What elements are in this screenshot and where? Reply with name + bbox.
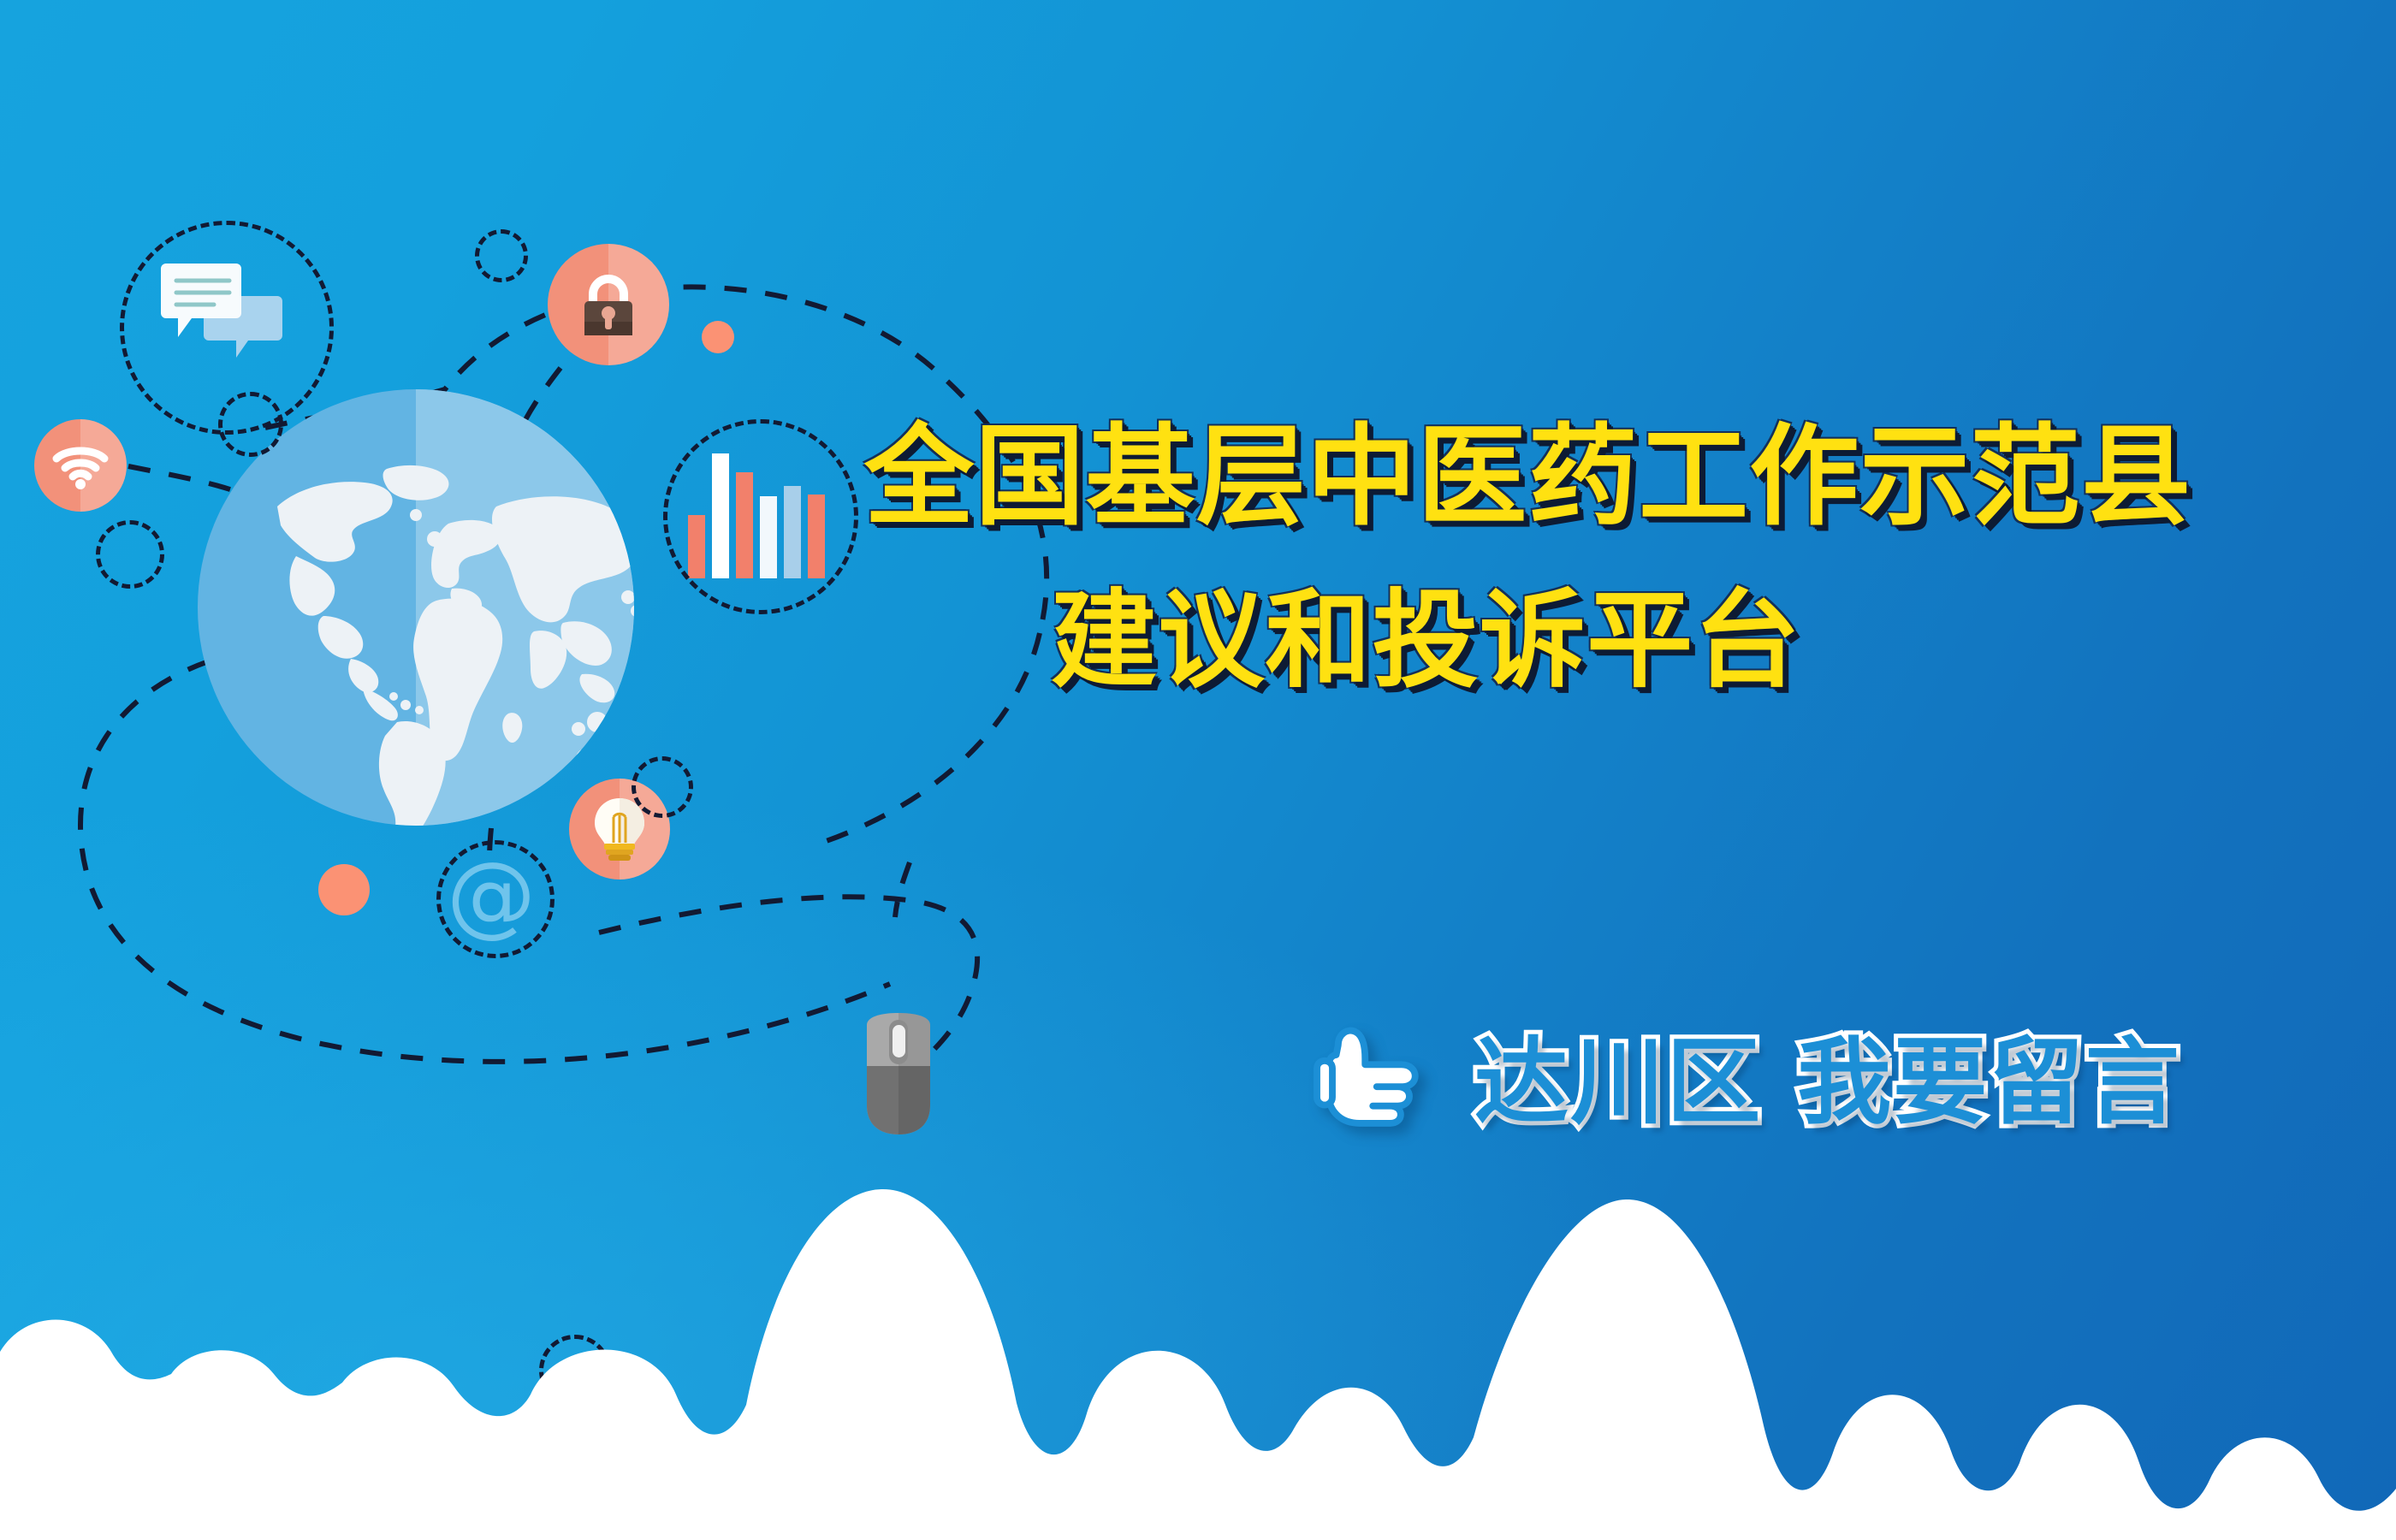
dashed-ring-small-2 bbox=[218, 392, 283, 457]
leave-message-cta[interactable]: 达川区 我要留言 bbox=[1309, 1005, 2181, 1142]
at-sign-icon: @ bbox=[436, 840, 546, 950]
lightbulb-icon bbox=[590, 795, 649, 863]
dashed-ring-bars bbox=[663, 419, 858, 614]
wifi-icon bbox=[51, 441, 110, 489]
title-block: 全国基层中医药工作示范县 建议和投诉平台 bbox=[864, 419, 2370, 697]
pointing-right-hand-icon bbox=[1309, 1016, 1425, 1132]
wifi-badge bbox=[34, 419, 127, 512]
accent-dot-top bbox=[702, 321, 734, 353]
page-title-line-2: 建议和投诉平台 bbox=[1051, 585, 2370, 697]
lock-icon bbox=[572, 269, 644, 341]
dashed-ring-small-3 bbox=[96, 520, 164, 589]
page-title-line-1: 全国基层中医药工作示范县 bbox=[864, 419, 2370, 536]
computer-mouse-icon bbox=[860, 1010, 937, 1138]
leave-message-label: 达川区 我要留言 bbox=[1474, 1005, 2181, 1142]
accent-dot-bottom bbox=[318, 864, 370, 915]
dashed-ring-small-1 bbox=[475, 229, 528, 282]
banner-canvas: @ 全国基层中医药工作示范县 建议和投诉平台 达川区 我要留言 bbox=[0, 0, 2396, 1540]
cloud-decoration bbox=[0, 1181, 2396, 1540]
lock-badge bbox=[548, 244, 669, 365]
